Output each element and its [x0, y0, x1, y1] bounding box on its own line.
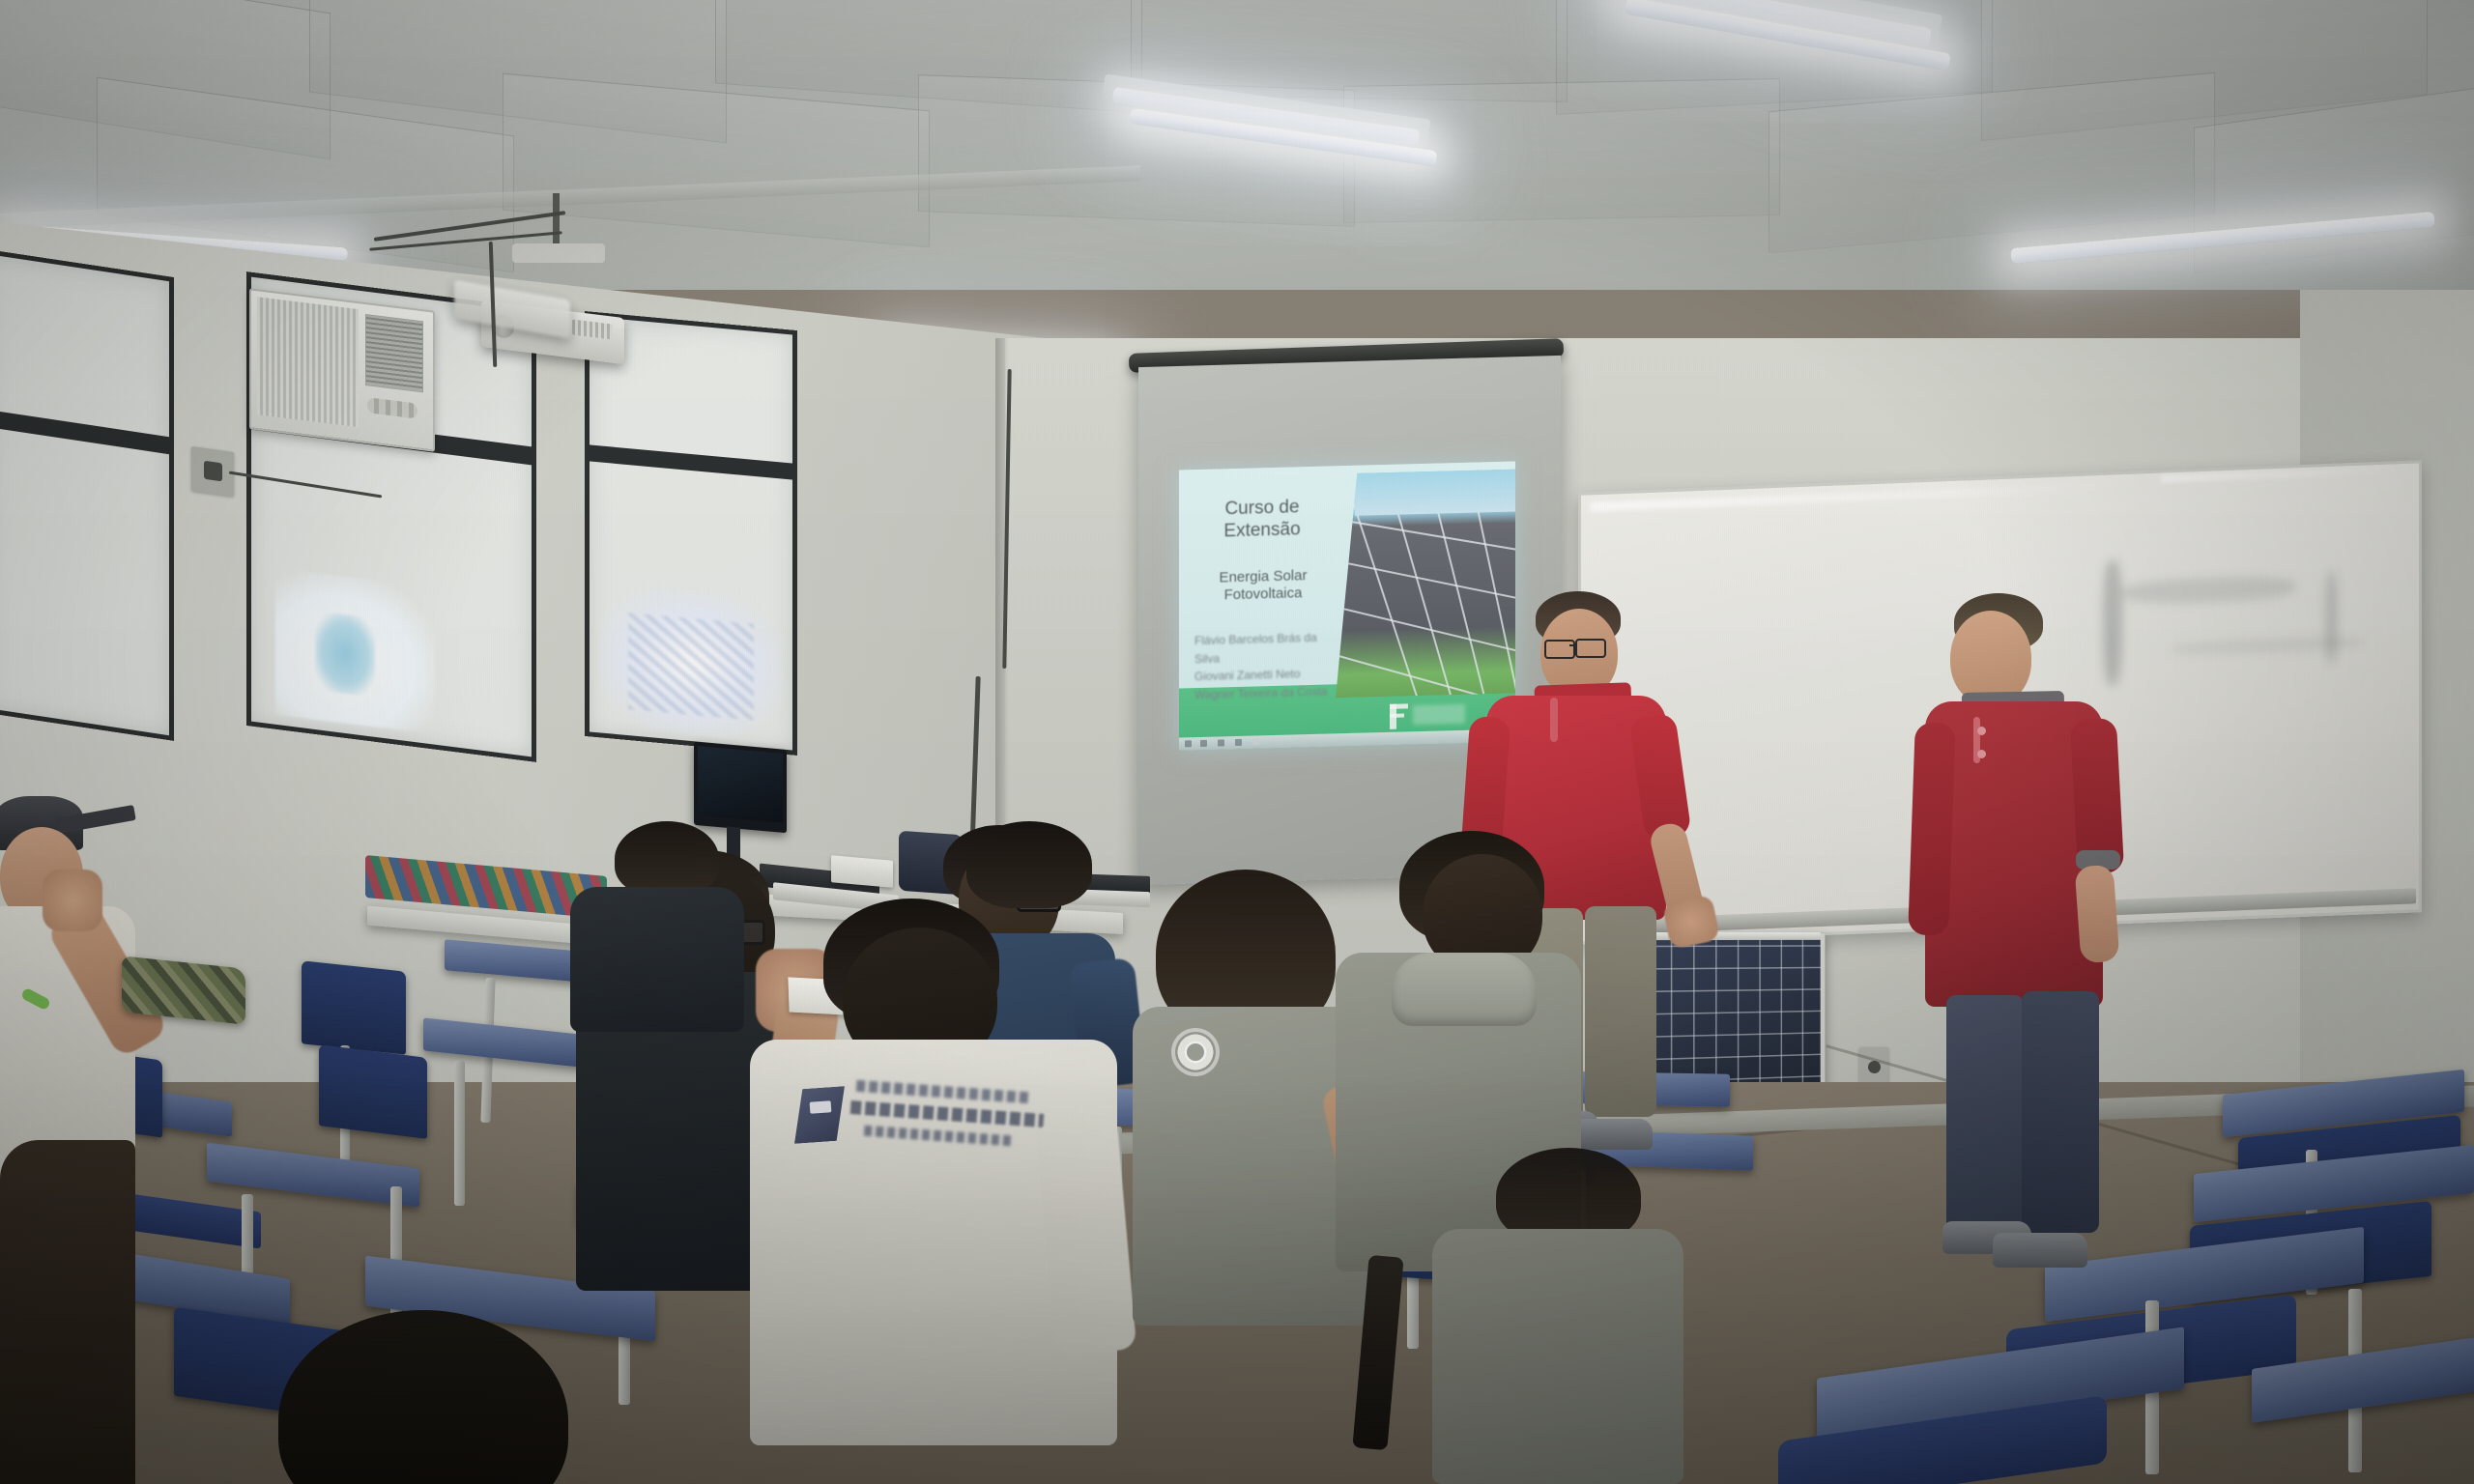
- hood: [1392, 953, 1537, 1026]
- chair-back: [319, 1044, 427, 1139]
- slide-author-3: Wagner Teixeira da Costa: [1194, 682, 1339, 704]
- polo-button: [1977, 727, 1986, 735]
- glasses-icon: [1544, 640, 1575, 659]
- presenter-1-shoe: [1575, 1119, 1653, 1150]
- polo-button: [1977, 750, 1986, 758]
- polo-placket: [1550, 698, 1558, 742]
- whiteboard-smudge: [2103, 559, 2122, 686]
- projector-vent: [572, 319, 613, 339]
- student-cap-hands: [43, 870, 102, 931]
- slide-institution-logo-bar: [1390, 713, 1404, 717]
- ac-controls: [367, 397, 417, 418]
- paper-stack: [831, 855, 893, 888]
- chair-back: [302, 960, 406, 1054]
- slide-photo-sky: [1355, 469, 1515, 515]
- air-conditioner[interactable]: [249, 288, 435, 452]
- background-student-head: [615, 821, 719, 897]
- computer-monitor[interactable]: [694, 742, 787, 833]
- background-student-shirt: [1432, 1229, 1683, 1484]
- slide-title-line2: Extensão: [1200, 518, 1324, 544]
- seated-student-hair: [966, 821, 1092, 908]
- glasses-icon: [1575, 639, 1606, 658]
- classroom-photo: Curso de Extensão Energia Solar Fotovolt…: [0, 0, 2474, 1484]
- whiteboard-glare: [2161, 466, 2402, 483]
- slide-title-line1: Curso de: [1200, 496, 1324, 522]
- slide-author-1: Flávio Barcelos Brás da Silva: [1194, 628, 1339, 668]
- slide-subtitle: Energia Solar Fotovoltaica: [1196, 566, 1330, 605]
- presenter-2-left-arm: [1908, 722, 1956, 935]
- slide-subtitle-line2: Fotovoltaica: [1196, 585, 1330, 606]
- gear-icon-center: [1187, 1043, 1204, 1061]
- slide-title: Curso de Extensão: [1200, 496, 1324, 544]
- window-pane: [0, 248, 174, 741]
- ac-vent: [365, 314, 423, 392]
- wall-outlet[interactable]: [191, 446, 234, 497]
- slide-authors: Flávio Barcelos Brás da Silva Giovani Za…: [1194, 628, 1339, 703]
- ac-grill: [257, 297, 359, 427]
- projected-slide: Curso de Extensão Energia Solar Fotovolt…: [1179, 461, 1515, 750]
- desk-leg: [454, 1061, 465, 1206]
- slide-institution-text: [1413, 704, 1465, 725]
- presenter-2-shoe: [1993, 1233, 2087, 1268]
- projector-mount: [512, 243, 605, 263]
- whiteboard-smudge: [2122, 574, 2296, 606]
- projector-mount-rod: [553, 193, 560, 247]
- presenter-1-right-leg: [1585, 906, 1656, 1117]
- window-frost-texture: [628, 613, 754, 720]
- glasses-bridge: [1569, 644, 1577, 646]
- presenter-2-right-leg-jeans: [2022, 991, 2099, 1233]
- presenter-2-forearm: [2075, 865, 2120, 964]
- ifes-logo-mark: [810, 1100, 832, 1114]
- slide-institution-logo-bar: [1390, 703, 1408, 708]
- foreground-student-body: [0, 1140, 135, 1484]
- slide-solar-photo: [1336, 469, 1515, 698]
- window-frost-blue: [315, 611, 375, 698]
- monitor-screen: [698, 746, 783, 823]
- presenter-2-left-leg-jeans: [1946, 995, 2024, 1237]
- whiteboard-smudge: [2325, 571, 2338, 664]
- outlet-hole: [204, 461, 222, 482]
- background-student-shirt: [570, 887, 744, 1032]
